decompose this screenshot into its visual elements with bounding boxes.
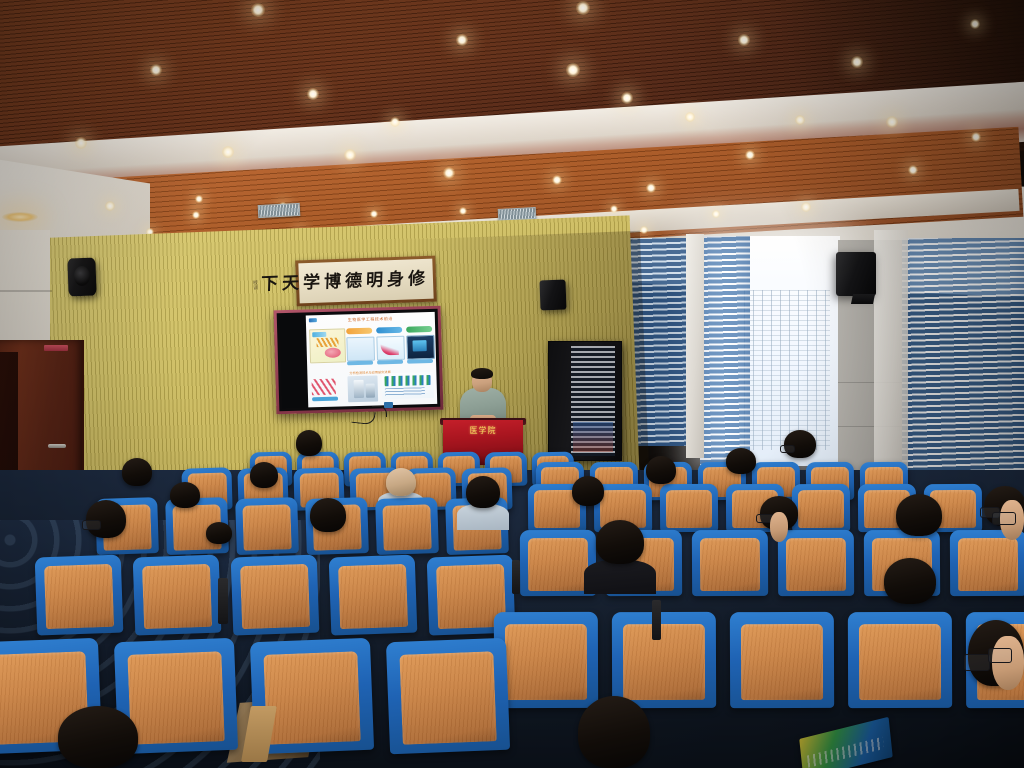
ceiling-downlight xyxy=(192,211,200,219)
audience-head xyxy=(122,458,152,486)
audience-head xyxy=(386,468,416,496)
seat-back-pad xyxy=(242,504,292,550)
audience-face-profile xyxy=(770,512,788,542)
presentation-display[interactable]: 生物医学工程技术前沿 分析检测技术与应用研究进展 xyxy=(274,306,444,415)
display-dark-band xyxy=(280,315,309,408)
audience-head xyxy=(466,476,500,508)
audience-head xyxy=(896,494,942,536)
seat-back-pad xyxy=(44,564,113,629)
seat-back-pad xyxy=(859,623,940,700)
audience-head xyxy=(250,462,278,488)
seat-back-pad xyxy=(142,564,211,629)
slide-data-bars xyxy=(384,375,430,386)
ceiling-downlight xyxy=(443,167,455,179)
audience-face-profile xyxy=(992,636,1024,690)
ceiling-downlight xyxy=(801,202,811,212)
ceiling-downlight xyxy=(886,116,898,128)
audience-head xyxy=(578,696,650,768)
plaque-signature: 校训 xyxy=(251,280,257,290)
seat-back-pad xyxy=(382,504,432,550)
ceiling-downlight xyxy=(344,149,356,161)
ceiling-downlight xyxy=(908,165,918,175)
ceiling-downlight xyxy=(307,88,319,100)
calligraphy-plaque: 校训 下 天 学 博 德 明 身 修 xyxy=(295,256,437,307)
door-sign xyxy=(44,345,68,351)
auditorium-seat[interactable] xyxy=(778,530,854,596)
audience-head xyxy=(206,522,232,544)
seat-back-pad xyxy=(798,490,844,529)
blinds-center-window[interactable] xyxy=(700,236,750,468)
ceiling-downlight xyxy=(150,64,162,76)
seat-back-pad xyxy=(400,652,497,745)
ceiling-downlight xyxy=(795,115,805,125)
slide-title: 生物医学工程技术前沿 xyxy=(306,315,435,325)
wall-speaker-center xyxy=(539,280,566,311)
wall-connector-plate xyxy=(384,402,393,408)
ceiling-downlight xyxy=(459,207,467,215)
seat-back-pad xyxy=(528,538,588,591)
auditorium-seat[interactable] xyxy=(730,612,834,708)
ceiling-downlight xyxy=(390,117,400,127)
seat-armrest xyxy=(512,560,520,594)
ceiling-downlight xyxy=(851,56,863,68)
ceiling-downlight xyxy=(75,137,87,149)
wall-speaker-right xyxy=(836,252,876,296)
slide-footer-helix xyxy=(312,379,336,396)
slide-pill-1 xyxy=(346,328,372,335)
plaque-char-5: 博 xyxy=(324,273,342,291)
seat-back-pad xyxy=(700,538,760,591)
auditorium-seat[interactable] xyxy=(792,484,850,532)
slide-figure-helix xyxy=(316,338,338,348)
audience-head xyxy=(170,482,200,508)
seat-back-pad xyxy=(338,564,407,629)
auditorium-seat[interactable] xyxy=(133,555,222,636)
rack-indicator-glow xyxy=(573,422,613,452)
plaque-char-8: 下 xyxy=(261,276,279,294)
auditorium-seat[interactable] xyxy=(235,497,299,555)
wall-speaker-left xyxy=(67,258,96,297)
left-wall-seam xyxy=(0,290,52,292)
ceiling-downlight xyxy=(456,34,468,46)
wall-pillar-far-right xyxy=(874,230,908,500)
slide-subpill-2 xyxy=(377,360,403,365)
ceiling-downlight xyxy=(738,34,750,46)
slide-card-3-inset xyxy=(412,340,426,351)
audience-head xyxy=(726,448,756,474)
slide-pill-2 xyxy=(376,327,402,334)
eyeglasses xyxy=(988,648,1012,663)
auditorium-seat[interactable] xyxy=(494,612,598,708)
ceiling-downlight xyxy=(566,63,580,77)
eyeglasses xyxy=(82,520,101,530)
plaque-char-4: 德 xyxy=(345,273,363,291)
plaque-char-6: 学 xyxy=(303,274,321,292)
auditorium-seat[interactable] xyxy=(386,638,510,755)
window-mullion-grid xyxy=(744,290,830,450)
seat-back-pad xyxy=(128,652,225,745)
seat-armrest xyxy=(652,600,661,640)
ceiling-downlight xyxy=(970,19,980,29)
eyeglasses xyxy=(992,512,1016,525)
auditorium-seat[interactable] xyxy=(375,497,439,555)
av-equipment-rack[interactable] xyxy=(548,341,622,461)
audience-head xyxy=(596,520,644,564)
audience-shoulders xyxy=(584,560,656,594)
auditorium-seat[interactable] xyxy=(692,530,768,596)
seat-back-pad xyxy=(958,538,1018,591)
seat-back-pad xyxy=(666,490,712,529)
audience-head xyxy=(310,498,346,532)
seat-back-pad xyxy=(786,538,846,591)
presenter-hair xyxy=(471,368,493,379)
slide-figure-accent xyxy=(312,332,326,337)
seat-back-pad xyxy=(623,623,704,700)
slide-subpill-1 xyxy=(347,361,373,366)
audience-head xyxy=(646,456,676,484)
auditorium-seat[interactable] xyxy=(231,555,320,636)
audience-head xyxy=(572,476,604,506)
slide-card-1 xyxy=(346,337,375,362)
plaque-char-1: 修 xyxy=(408,270,426,288)
ceiling-downlight xyxy=(646,183,656,193)
soffit-downlight xyxy=(2,212,38,222)
ceiling-downlight xyxy=(610,205,618,213)
ceiling-downlight xyxy=(971,132,981,142)
audience-head xyxy=(296,430,322,456)
eyeglasses xyxy=(964,654,990,671)
slide-footnote-pill xyxy=(312,397,338,402)
slide-content: 生物医学工程技术前沿 分析检测技术与应用研究进展 xyxy=(306,312,438,408)
ceiling-downlight xyxy=(552,175,562,185)
lecture-hall-photo: 校训 下 天 学 博 德 明 身 修 生物医学工程技术前沿 xyxy=(0,0,1024,768)
plaque-char-7: 天 xyxy=(282,275,300,293)
auditorium-seat[interactable] xyxy=(612,612,716,708)
ceiling-downlight xyxy=(105,201,115,211)
slide-subpill-3 xyxy=(407,359,433,364)
auditorium-seat[interactable] xyxy=(35,555,124,636)
ceiling-downlight xyxy=(222,146,234,158)
display-bezel: 生物医学工程技术前沿 分析检测技术与应用研究进展 xyxy=(277,309,441,411)
eyeglasses xyxy=(780,445,795,453)
ceiling-downlight xyxy=(745,150,755,160)
ceiling-downlight xyxy=(712,210,720,218)
auditorium-seat[interactable] xyxy=(329,555,418,636)
slide-pill-3 xyxy=(406,326,432,333)
plaque-char-2: 身 xyxy=(387,271,405,289)
podium-inscription: 医学院 xyxy=(455,427,511,435)
ceiling-air-vent xyxy=(258,203,301,218)
ceiling-downlight xyxy=(370,210,378,218)
door-handle[interactable] xyxy=(48,444,66,448)
ceiling-downlight xyxy=(640,226,648,234)
speaker-bracket xyxy=(851,294,875,304)
auditorium-seat[interactable] xyxy=(660,484,718,532)
ceiling-downlight xyxy=(576,1,590,15)
audience-head xyxy=(58,706,138,768)
slide-instrument-2 xyxy=(366,384,375,398)
auditorium-seat[interactable] xyxy=(848,612,952,708)
seat-armrest xyxy=(218,578,228,624)
ceiling-downlight xyxy=(251,3,265,17)
audience-head xyxy=(884,558,936,604)
ceiling-downlight xyxy=(621,92,633,104)
seat-back-pad xyxy=(240,564,309,629)
seat-back-pad xyxy=(264,652,361,745)
seat-back-pad xyxy=(505,623,586,700)
slide-data-text xyxy=(385,387,425,396)
slide-instrument xyxy=(354,380,364,398)
ceiling-downlight xyxy=(685,112,695,122)
seat-back-pad xyxy=(741,623,822,700)
window-pillar-left xyxy=(686,234,704,458)
plaque-char-3: 明 xyxy=(366,272,384,290)
ceiling-downlight xyxy=(195,195,203,203)
